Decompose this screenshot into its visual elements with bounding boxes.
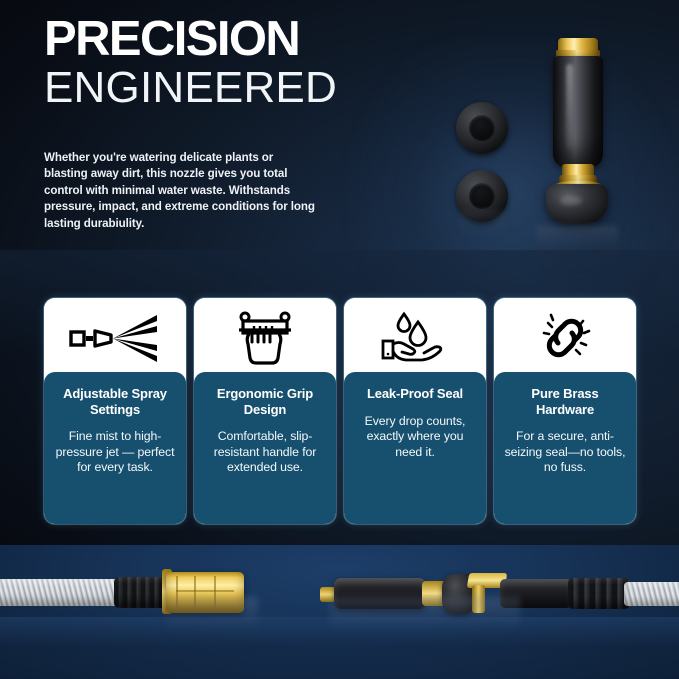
card-body: Adjustable Spray Settings Fine mist to h… — [44, 372, 186, 524]
braided-hose-right — [624, 582, 679, 606]
card-text: Fine mist to high-pressure jet — perfect… — [53, 429, 177, 476]
barrel-highlight — [566, 64, 573, 150]
card-title: Pure Brass Hardware — [503, 386, 627, 417]
hero-description: Whether you're watering delicate plants … — [44, 150, 316, 232]
hand-water-drop-icon — [380, 310, 450, 366]
nozzle-assembly — [546, 38, 608, 228]
washer-reflection — [460, 210, 506, 236]
card-title: Ergonomic Grip Design — [203, 386, 327, 417]
card-icon-panel — [194, 298, 336, 378]
feature-card-adjustable-spray[interactable]: Adjustable Spray Settings Fine mist to h… — [44, 298, 186, 524]
spray-nozzle-icon — [67, 312, 163, 364]
headline-secondary: ENGINEERED — [44, 63, 337, 113]
feature-card-pure-brass[interactable]: Pure Brass Hardware For a secure, anti-s… — [494, 298, 636, 524]
hose-reflection-left — [166, 597, 258, 631]
card-text: Every drop counts, exactly where you nee… — [353, 414, 477, 461]
card-body: Leak-Proof Seal Every drop counts, exact… — [344, 372, 486, 524]
feature-cards: Adjustable Spray Settings Fine mist to h… — [44, 298, 636, 524]
base-highlight — [560, 196, 582, 205]
card-body: Ergonomic Grip Design Comfortable, slip-… — [194, 372, 336, 524]
hose-reflection-right — [330, 597, 520, 631]
card-icon-panel — [344, 298, 486, 378]
washer-hole — [469, 115, 495, 141]
feature-card-ergonomic-grip[interactable]: Ergonomic Grip Design Comfortable, slip-… — [194, 298, 336, 524]
washer-hole — [469, 183, 495, 209]
card-body: Pure Brass Hardware For a secure, anti-s… — [494, 372, 636, 524]
card-text: Comfortable, slip-resistant handle for e… — [203, 429, 327, 476]
card-icon-panel — [44, 298, 186, 378]
card-title: Adjustable Spray Settings — [53, 386, 177, 417]
card-title: Leak-Proof Seal — [353, 386, 477, 402]
card-text: For a secure, anti-seizing seal—no tools… — [503, 429, 627, 476]
bottom-product-band — [0, 545, 679, 679]
nozzle-reflection — [536, 226, 618, 272]
chain-link-shine-icon — [534, 309, 596, 367]
feature-card-leak-proof-seal[interactable]: Leak-Proof Seal Every drop counts, exact… — [344, 298, 486, 524]
card-icon-panel — [494, 298, 636, 378]
nozzle-barrel — [553, 56, 603, 168]
rubber-washer-1 — [456, 102, 508, 154]
product-infographic: PRECISION ENGINEERED Whether you're wate… — [0, 0, 679, 679]
braided-hose-left — [0, 579, 122, 606]
strain-relief-right — [568, 578, 630, 609]
headline-primary: PRECISION — [44, 16, 337, 63]
headline-block: PRECISION ENGINEERED — [44, 16, 337, 113]
hand-grip-handle-icon — [236, 310, 294, 366]
product-photo — [440, 10, 679, 272]
